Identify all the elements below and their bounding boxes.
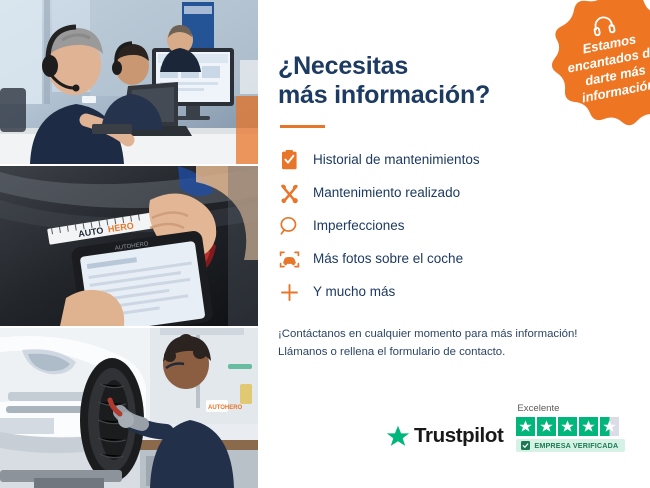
list-item: Más fotos sobre el coche	[278, 243, 628, 276]
car-inspection-photo: AUTO HERO	[0, 166, 258, 326]
status-badge: EMPRESA VERIFICADA	[516, 439, 625, 452]
magnifier-icon	[278, 215, 300, 237]
badge-text: Estamos encantados de darte más informac…	[553, 26, 650, 110]
status-badge: Estamos encantados de darte más informac…	[538, 0, 650, 138]
list-item: Mantenimiento realizado	[278, 177, 628, 210]
call-center-agents-photo	[0, 0, 258, 164]
content-panel: ¿Necesitas más información? Historial de…	[258, 0, 650, 488]
contact-text: ¡Contáctanos en cualquier momento para m…	[278, 325, 628, 363]
list-item: Historial de mantenimientos	[278, 144, 628, 177]
svg-text:AUTOHERO: AUTOHERO	[208, 405, 243, 411]
photo-column: AUTO HERO	[0, 0, 258, 488]
trustpilot-logo: Trustpilot	[386, 424, 503, 452]
trustpilot-wordmark: Trustpilot	[414, 424, 503, 448]
check-icon	[521, 441, 530, 450]
star-filled	[579, 417, 598, 436]
trustpilot-star-icon	[386, 425, 410, 448]
headset-icon	[591, 13, 616, 37]
star-half	[600, 417, 619, 436]
contact-line-2: Llámanos o rellena el formulario de cont…	[278, 343, 628, 362]
trustpilot-rating: Excelente	[516, 403, 625, 452]
feature-label: Mantenimiento realizado	[313, 186, 460, 200]
title-divider	[280, 125, 325, 128]
feature-list: Historial de mantenimientos M	[278, 144, 628, 309]
verified-label: EMPRESA VERIFICADA	[534, 441, 618, 450]
list-item: Imperfecciones	[278, 210, 628, 243]
feature-label: Historial de mantenimientos	[313, 153, 480, 167]
clipboard-check-icon	[278, 149, 300, 171]
tools-cross-icon	[278, 182, 300, 204]
car-photo-frame-icon	[278, 248, 300, 270]
trustpilot-rating-label: Excelente	[517, 403, 559, 414]
headline-line-2: más información?	[278, 81, 490, 109]
wheel-inspection-photo: AUTOHERO	[0, 328, 258, 488]
headline-line-1: ¿Necesitas	[278, 52, 408, 80]
list-item: Y mucho más	[278, 276, 628, 309]
contact-line-1: ¡Contáctanos en cualquier momento para m…	[278, 325, 628, 344]
trustpilot-stars	[516, 417, 619, 436]
information-banner: AUTO HERO	[0, 0, 650, 488]
trustpilot-widget[interactable]: Trustpilot Excelente	[386, 403, 625, 452]
feature-label: Más fotos sobre el coche	[313, 252, 463, 266]
feature-label: Imperfecciones	[313, 219, 405, 233]
page-title: ¿Necesitas más información?	[278, 52, 528, 111]
star-filled	[558, 417, 577, 436]
feature-label: Y mucho más	[313, 285, 395, 299]
star-filled	[516, 417, 535, 436]
plus-icon	[278, 281, 300, 303]
star-filled	[537, 417, 556, 436]
